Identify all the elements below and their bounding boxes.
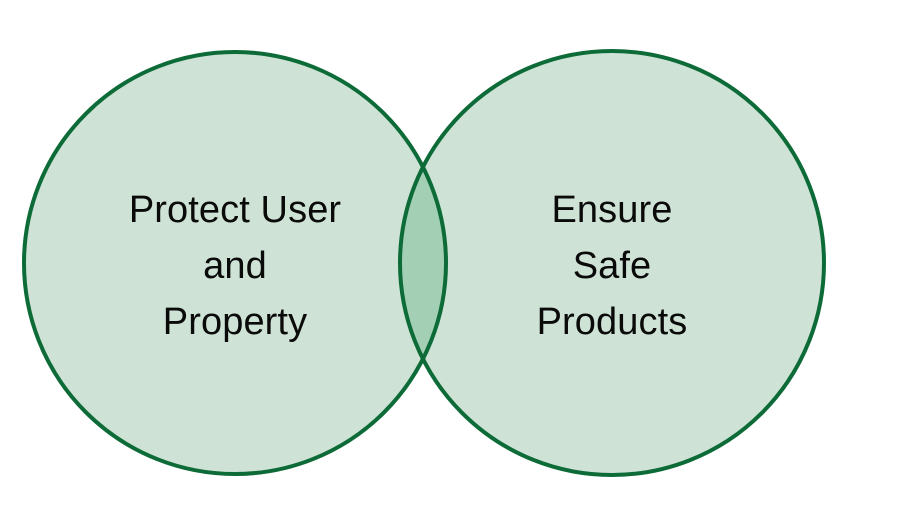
venn-diagram-canvas bbox=[0, 0, 900, 522]
venn-diagram: Protect User and Property Ensure Safe Pr… bbox=[0, 0, 900, 522]
venn-circle-right-fill[interactable] bbox=[400, 51, 824, 475]
venn-circle-left-fill[interactable] bbox=[24, 52, 446, 474]
